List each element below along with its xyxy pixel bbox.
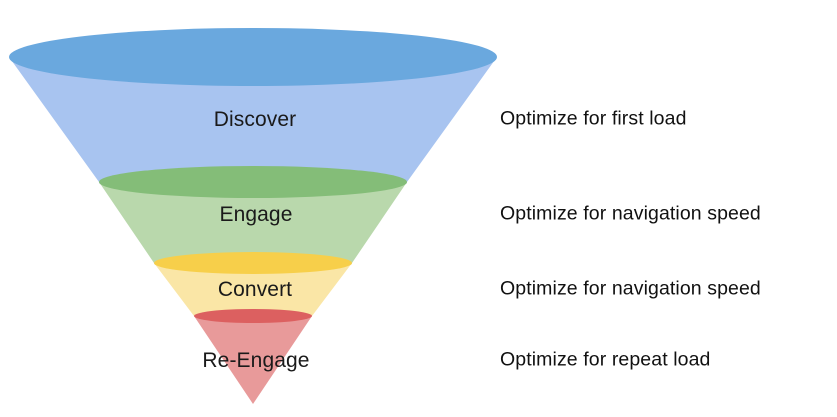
- funnel-stage-label: Convert: [218, 278, 292, 302]
- segment-cap-ellipse: [154, 252, 352, 274]
- funnel-stage-annotation: Optimize for navigation speed: [500, 278, 761, 301]
- funnel-stage-annotation: Optimize for repeat load: [500, 349, 711, 372]
- segment-cap-ellipse: [9, 28, 497, 86]
- funnel-stage-label: Engage: [219, 203, 292, 227]
- funnel-stage-annotation: Optimize for first load: [500, 108, 687, 131]
- segment-cap-ellipse: [99, 166, 407, 198]
- funnel-stage-label: Re-Engage: [202, 349, 309, 373]
- funnel-stage-label: Discover: [214, 108, 296, 132]
- segment-cap-ellipse: [194, 309, 312, 323]
- funnel-diagram: DiscoverOptimize for first loadEngageOpt…: [0, 0, 837, 417]
- funnel-stage-annotation: Optimize for navigation speed: [500, 203, 761, 226]
